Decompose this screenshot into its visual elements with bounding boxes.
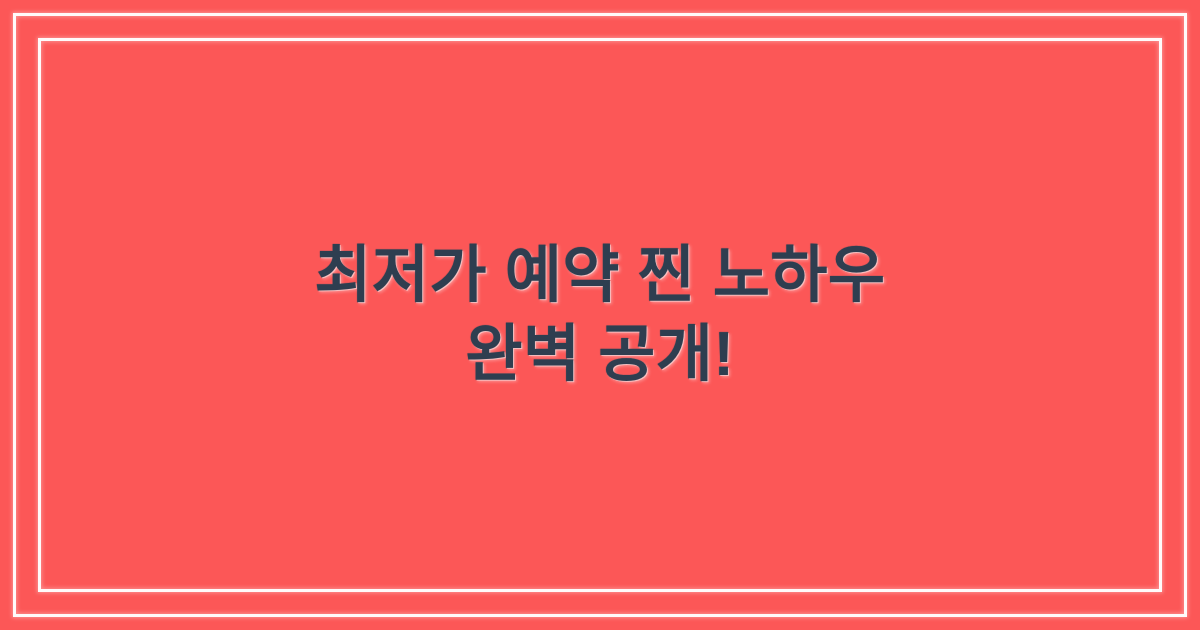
headline-container: 최저가 예약 찐 노하우 완벽 공개! bbox=[150, 236, 1050, 395]
promo-banner: 최저가 예약 찐 노하우 완벽 공개! bbox=[0, 0, 1200, 630]
banner-headline: 최저가 예약 찐 노하우 완벽 공개! bbox=[170, 236, 1030, 395]
